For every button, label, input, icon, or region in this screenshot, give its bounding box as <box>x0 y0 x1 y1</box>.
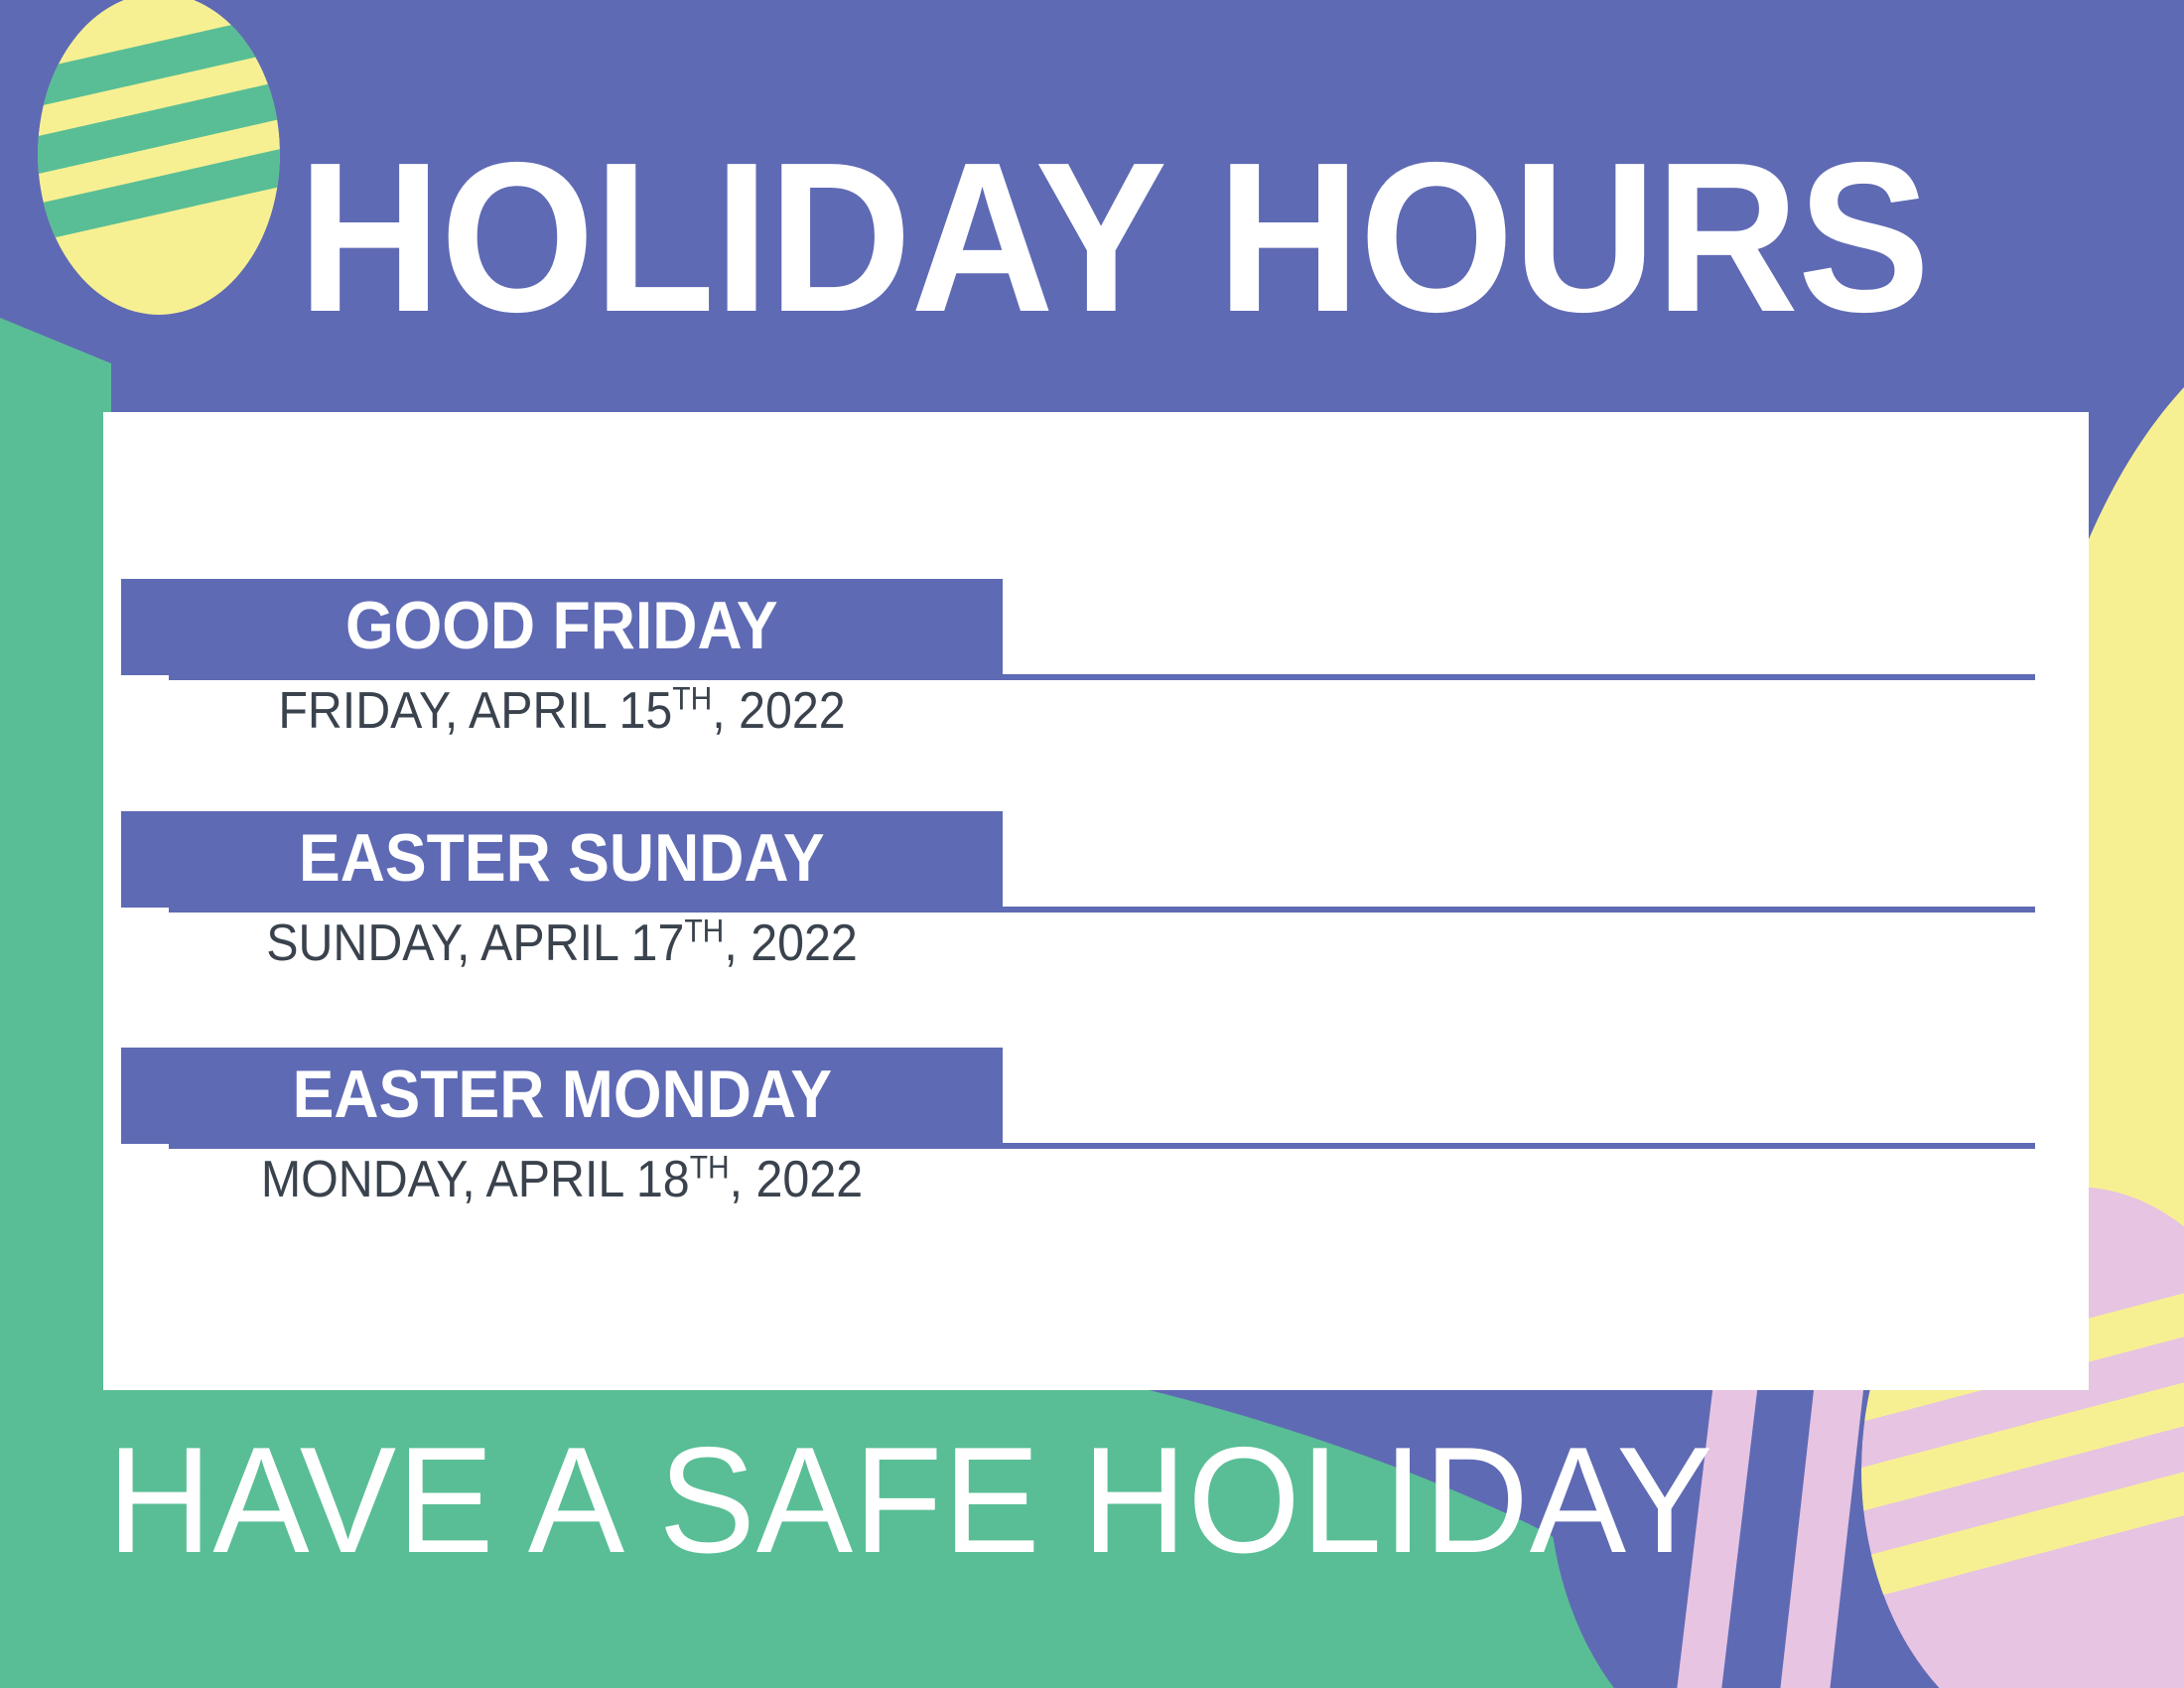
holiday-date: FRIDAY, APRIL 15TH, 2022 <box>152 682 972 742</box>
holiday-hours-poster: HOLIDAY HOURS GOOD FRIDAY FRIDAY, APRIL … <box>0 0 2184 1688</box>
holiday-name-label: EASTER MONDAY <box>292 1060 831 1132</box>
footer-message: HAVE A SAFE HOLIDAY <box>107 1425 1714 1576</box>
holiday-date-prefix: MONDAY, APRIL 18 <box>261 1151 690 1208</box>
holiday-name-band: EASTER MONDAY <box>121 1048 1003 1144</box>
holiday-date-ordinal: TH <box>672 681 712 717</box>
holiday-date-suffix: , 2022 <box>730 1151 863 1208</box>
holiday-date-prefix: SUNDAY, APRIL 17 <box>266 914 684 972</box>
holiday-name-label: GOOD FRIDAY <box>345 592 778 663</box>
holiday-name-band: EASTER SUNDAY <box>121 811 1003 908</box>
holiday-name-band: GOOD FRIDAY <box>121 579 1003 675</box>
holiday-date-ordinal: TH <box>684 914 724 949</box>
holiday-date-suffix: , 2022 <box>712 682 845 740</box>
holiday-date-ordinal: TH <box>690 1150 730 1186</box>
holiday-list: GOOD FRIDAY FRIDAY, APRIL 15TH, 2022 EAS… <box>103 412 2089 1390</box>
holiday-date-suffix: , 2022 <box>724 914 857 972</box>
page-title: HOLIDAY HOURS <box>298 137 1867 338</box>
holiday-name-label: EASTER SUNDAY <box>299 824 825 896</box>
holiday-date-prefix: FRIDAY, APRIL 15 <box>278 682 672 740</box>
holiday-date: SUNDAY, APRIL 17TH, 2022 <box>152 914 972 974</box>
holiday-date: MONDAY, APRIL 18TH, 2022 <box>152 1151 972 1210</box>
